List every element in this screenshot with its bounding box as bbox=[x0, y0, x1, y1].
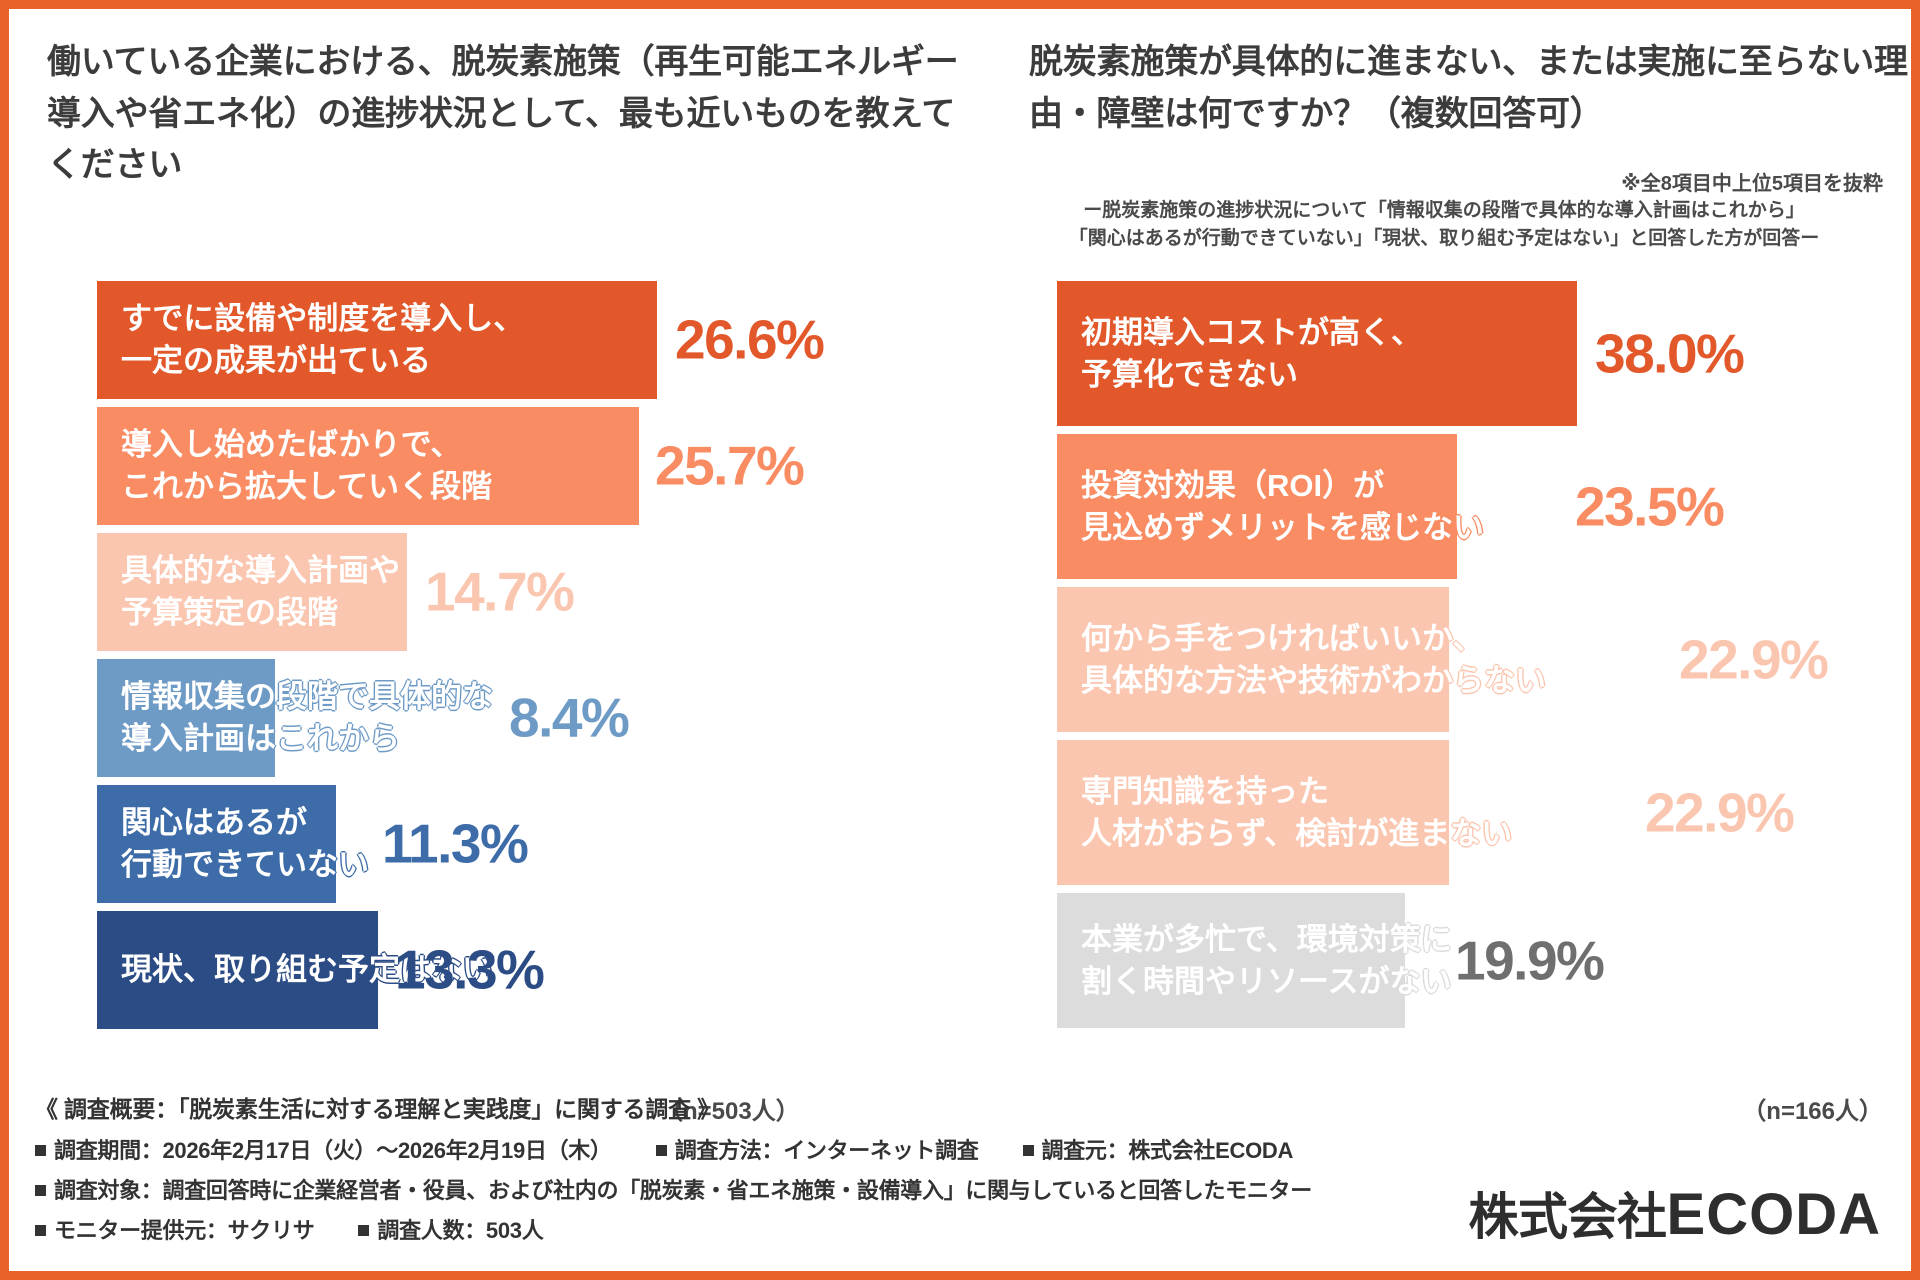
logo-name: ECODA bbox=[1667, 1182, 1881, 1247]
bar-value-label: 19.9% bbox=[1455, 933, 1603, 988]
bullet-square-icon bbox=[35, 1145, 46, 1156]
bar-value-label: 26.6% bbox=[675, 313, 823, 368]
bar-row: 初期導入コストが高く、予算化できない38.0% bbox=[1057, 281, 1917, 426]
company-logo: 株式会社ECODA bbox=[1469, 1177, 1881, 1249]
right-chart-excerpt-note: ※全8項目中上位5項目を抜粋 bbox=[1621, 167, 1883, 196]
bar-label-line-1: 本業が多忙で、環境対策に bbox=[1081, 919, 1452, 961]
bar-label-line-1: 関心はあるが bbox=[121, 802, 369, 844]
bar-rect: すでに設備や制度を導入し、一定の成果が出ている bbox=[97, 281, 657, 399]
bar-value-label: 38.0% bbox=[1595, 326, 1743, 381]
bar-rect: 専門知識を持った人材がおらず、検討が進まない bbox=[1057, 740, 1449, 885]
bar-row: 専門知識を持った人材がおらず、検討が進まない22.9% bbox=[1057, 740, 1917, 885]
bar-label-line-2: 具体的な方法や技術がわからない bbox=[1081, 660, 1546, 702]
bar-value-label: 23.5% bbox=[1575, 479, 1723, 534]
bar-category-label: 初期導入コストが高く、予算化できない bbox=[1081, 312, 1422, 395]
bar-row: 具体的な導入計画や予算策定の段階14.7% bbox=[97, 533, 977, 651]
bar-label-line-1: 専門知識を持った bbox=[1081, 771, 1512, 813]
bar-value-label: 14.7% bbox=[425, 565, 573, 620]
subnote-line-1: ー脱炭素施策の進捗状況について「情報収集の段階で具体的な導入計画はこれから」 bbox=[969, 197, 1919, 225]
left-bar-chart: すでに設備や制度を導入し、一定の成果が出ている26.6%導入し始めたばかりで、こ… bbox=[97, 281, 977, 1111]
bar-value-label: 11.3% bbox=[382, 817, 527, 872]
bar-label-line-1: 投資対効果（ROI）が bbox=[1081, 465, 1484, 507]
bar-rect: 本業が多忙で、環境対策に割く時間やリソースがない bbox=[1057, 893, 1405, 1028]
bar-row: 関心はあるが行動できていない11.3% bbox=[97, 785, 977, 903]
right-bar-chart: 初期導入コストが高く、予算化できない38.0%投資対効果（ROI）が見込めずメリ… bbox=[1057, 281, 1917, 1111]
subnote-line-2: 「関心はあるが行動できていない」「現状、取り組む予定はない」と回答した方が回答ー bbox=[969, 225, 1919, 253]
bar-rect: 投資対効果（ROI）が見込めずメリットを感じない bbox=[1057, 434, 1457, 579]
bar-row: 現状、取り組む予定はない13.3% bbox=[97, 911, 977, 1029]
bar-label-line-1: 導入し始めたばかりで、 bbox=[121, 424, 492, 466]
bar-label-line-2: 見込めずメリットを感じない bbox=[1081, 507, 1484, 549]
bar-label-line-2: 予算策定の段階 bbox=[121, 592, 400, 634]
bar-label-line-1: 具体的な導入計画や bbox=[121, 550, 400, 592]
bar-value-label: 13.3% bbox=[395, 943, 543, 998]
footer-line-2: 調査対象：調査回答時に企業経営者・役員、および社内の「脱炭素・省エネ施策・設備導… bbox=[35, 1173, 1485, 1205]
bullet-square-icon bbox=[358, 1225, 369, 1236]
bar-rect: 何から手をつければいいか、具体的な方法や技術がわからない bbox=[1057, 587, 1449, 732]
bar-row: 情報収集の段階で具体的な導入計画はこれから8.4% bbox=[97, 659, 977, 777]
bar-row: 本業が多忙で、環境対策に割く時間やリソースがない19.9% bbox=[1057, 893, 1917, 1028]
bar-label-line-2: 行動できていない bbox=[121, 844, 369, 886]
bar-row: すでに設備や制度を導入し、一定の成果が出ている26.6% bbox=[97, 281, 977, 399]
bar-category-label: 具体的な導入計画や予算策定の段階 bbox=[121, 550, 400, 633]
bar-rect: 導入し始めたばかりで、これから拡大していく段階 bbox=[97, 407, 639, 525]
bar-category-label: 何から手をつければいいか、具体的な方法や技術がわからない bbox=[1081, 618, 1546, 701]
footer-line-3: モニター提供元：サクリサ調査人数：503人 bbox=[35, 1213, 1485, 1245]
survey-source: 調査元：株式会社ECODA bbox=[1042, 1138, 1294, 1163]
bar-row: 何から手をつければいいか、具体的な方法や技術がわからない22.9% bbox=[1057, 587, 1917, 732]
bullet-square-icon bbox=[35, 1225, 46, 1236]
bar-rect: 情報収集の段階で具体的な導入計画はこれから bbox=[97, 659, 275, 777]
bar-rect: 具体的な導入計画や予算策定の段階 bbox=[97, 533, 407, 651]
bar-category-label: 関心はあるが行動できていない bbox=[121, 802, 369, 885]
survey-period: 調査期間：2026年2月17日（火）～2026年2月19日（木） bbox=[54, 1138, 612, 1163]
bar-rect: 現状、取り組む予定はない bbox=[97, 911, 378, 1029]
bar-label-line-2: 一定の成果が出ている bbox=[121, 340, 524, 382]
bar-label-line-1: 情報収集の段階で具体的な bbox=[121, 676, 493, 718]
right-sample-size: （n=166人） bbox=[1742, 1091, 1883, 1126]
footer-line-1: 調査期間：2026年2月17日（火）～2026年2月19日（木）調査方法：インタ… bbox=[35, 1133, 1485, 1165]
bar-label-line-2: これから拡大していく段階 bbox=[121, 466, 492, 508]
logo-prefix: 株式会社 bbox=[1469, 1189, 1667, 1245]
infographic-page: 働いている企業における、脱炭素施策（再生可能エネルギー導入や省エネ化）の進捗状況… bbox=[0, 0, 1920, 1280]
bar-category-label: 本業が多忙で、環境対策に割く時間やリソースがない bbox=[1081, 919, 1452, 1002]
footer: 《 調査概要：「脱炭素生活に対する理解と実践度」に関する調査 》 調査期間：20… bbox=[35, 1090, 1485, 1253]
survey-target: 調査対象：調査回答時に企業経営者・役員、および社内の「脱炭素・省エネ施策・設備導… bbox=[54, 1178, 1312, 1203]
respondent-count: 調査人数：503人 bbox=[377, 1218, 543, 1243]
right-chart-subnote: ー脱炭素施策の進捗状況について「情報収集の段階で具体的な導入計画はこれから」 「… bbox=[969, 197, 1919, 252]
bar-value-label: 22.9% bbox=[1645, 785, 1793, 840]
bar-label-line-1: 初期導入コストが高く、 bbox=[1081, 312, 1422, 354]
bar-value-label: 8.4% bbox=[509, 691, 628, 746]
bar-value-label: 25.7% bbox=[655, 439, 803, 494]
bar-category-label: 専門知識を持った人材がおらず、検討が進まない bbox=[1081, 771, 1512, 854]
bar-category-label: 情報収集の段階で具体的な導入計画はこれから bbox=[121, 676, 493, 759]
footer-heading: 《 調査概要：「脱炭素生活に対する理解と実践度」に関する調査 》 bbox=[35, 1090, 1485, 1124]
bar-category-label: すでに設備や制度を導入し、一定の成果が出ている bbox=[121, 298, 524, 381]
bar-row: 投資対効果（ROI）が見込めずメリットを感じない23.5% bbox=[1057, 434, 1917, 579]
bar-label-line-2: 割く時間やリソースがない bbox=[1081, 961, 1452, 1003]
bar-label-line-2: 人材がおらず、検討が進まない bbox=[1081, 813, 1512, 855]
bar-category-label: 導入し始めたばかりで、これから拡大していく段階 bbox=[121, 424, 492, 507]
bar-label-line-2: 予算化できない bbox=[1081, 354, 1422, 396]
bar-category-label: 投資対効果（ROI）が見込めずメリットを感じない bbox=[1081, 465, 1484, 548]
bullet-square-icon bbox=[656, 1145, 667, 1156]
bar-label-line-1: 何から手をつければいいか、 bbox=[1081, 618, 1546, 660]
left-chart-title: 働いている企業における、脱炭素施策（再生可能エネルギー導入や省エネ化）の進捗状況… bbox=[47, 37, 977, 192]
bar-rect: 初期導入コストが高く、予算化できない bbox=[1057, 281, 1577, 426]
bar-rect: 関心はあるが行動できていない bbox=[97, 785, 336, 903]
bar-row: 導入し始めたばかりで、これから拡大していく段階25.7% bbox=[97, 407, 977, 525]
bar-label-line-2: 導入計画はこれから bbox=[121, 718, 493, 760]
right-chart-title: 脱炭素施策が具体的に進まない、または実施に至らない理由・障壁は何ですか？（複数回… bbox=[1029, 37, 1919, 140]
bar-label-line-1: すでに設備や制度を導入し、 bbox=[121, 298, 524, 340]
bullet-square-icon bbox=[1023, 1145, 1034, 1156]
survey-method: 調査方法：インターネット調査 bbox=[675, 1138, 979, 1163]
bar-value-label: 22.9% bbox=[1679, 632, 1827, 687]
bullet-square-icon bbox=[35, 1185, 46, 1196]
monitor-provider: モニター提供元：サクリサ bbox=[54, 1218, 314, 1243]
